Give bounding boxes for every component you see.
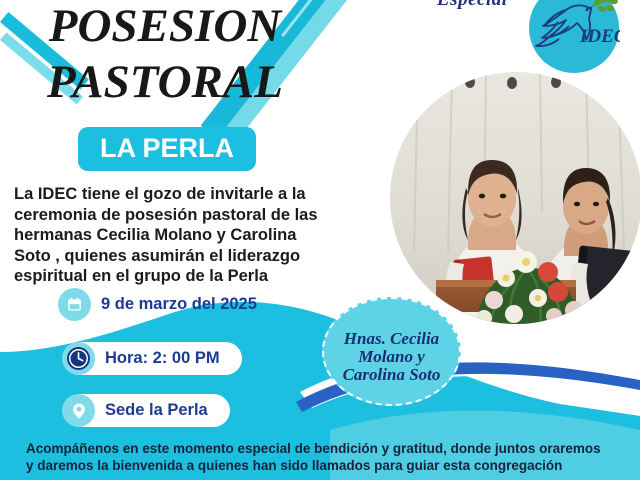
names-line-3: Carolina Soto bbox=[343, 366, 441, 384]
title-line-2: PASTORAL bbox=[0, 56, 330, 108]
date-chip: 9 de marzo del 2025 bbox=[58, 288, 263, 321]
logo-text: IDEC bbox=[579, 26, 620, 47]
especial-label: Especial bbox=[437, 0, 508, 11]
two-pastors-behind-pulpit-photo bbox=[390, 72, 640, 324]
footer-message: Acompáñenos en este momento especial de … bbox=[26, 441, 606, 474]
location-pin-icon bbox=[62, 394, 95, 427]
clock-icon-ring bbox=[62, 342, 95, 375]
title-line-1: POSESION bbox=[0, 0, 330, 54]
names-line-2: Molano y bbox=[343, 348, 441, 366]
idec-dove-logo: IDEC bbox=[528, 0, 620, 74]
poster-canvas: IDEC Especial POSESION PASTORAL LA PERLA… bbox=[0, 0, 640, 480]
page-title: POSESION PASTORAL bbox=[0, 0, 330, 108]
location-badge: LA PERLA bbox=[78, 127, 256, 171]
calendar-icon bbox=[58, 288, 91, 321]
pastors-names-badge: Hnas. Cecilia Molano y Carolina Soto bbox=[322, 297, 461, 406]
names-line-1: Hnas. Cecilia bbox=[343, 330, 441, 348]
time-chip: Hora: 2: 00 PM bbox=[62, 342, 242, 375]
invitation-paragraph: La IDEC tiene el gozo de invitarle a la … bbox=[14, 184, 324, 287]
pastors-names-text: Hnas. Cecilia Molano y Carolina Soto bbox=[343, 320, 441, 384]
date-label: 9 de marzo del 2025 bbox=[61, 288, 263, 321]
venue-chip: Sede la Perla bbox=[62, 394, 230, 427]
